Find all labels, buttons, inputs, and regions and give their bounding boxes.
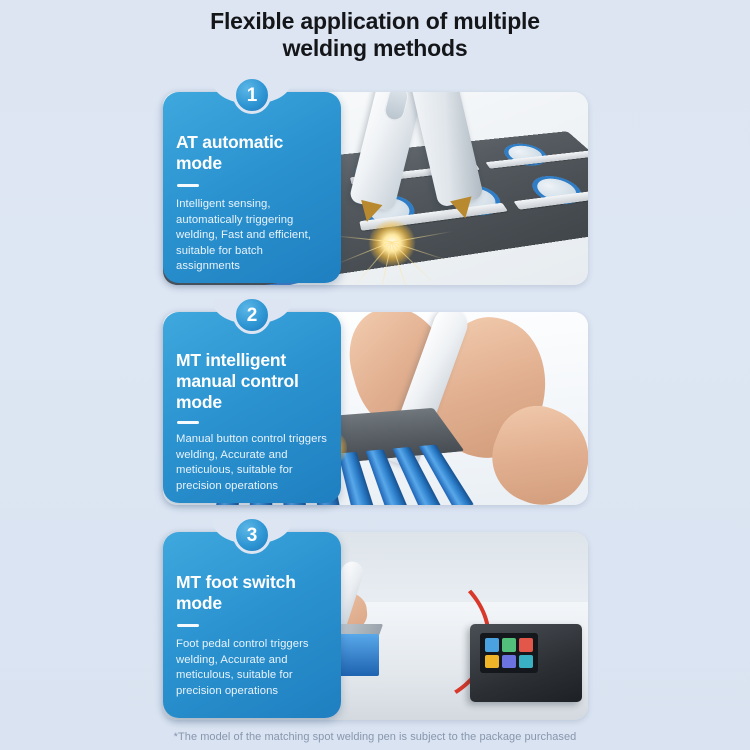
card-1-info-panel: AT automatic mode Intelligent sensing, a… — [163, 92, 341, 283]
divider — [177, 421, 199, 424]
card-2-info-panel: MT intelligent manual control mode Manua… — [163, 312, 341, 503]
page-background: Flexible application of multiple welding… — [0, 0, 750, 750]
divider — [177, 624, 199, 627]
card-3-number-badge: 3 — [233, 516, 271, 554]
screen-key — [502, 655, 516, 669]
page-title-line-1: Flexible application of multiple — [0, 8, 750, 35]
machine-screen — [480, 633, 538, 673]
card-1-description: Intelligent sensing, automatically trigg… — [176, 197, 327, 275]
spot-welder-machine — [470, 624, 582, 702]
page-title-line-2: welding methods — [0, 35, 750, 62]
screen-key — [485, 638, 499, 652]
screen-key — [519, 638, 533, 652]
screen-key — [519, 655, 533, 669]
pen-button — [383, 92, 411, 122]
page-title: Flexible application of multiple welding… — [0, 8, 750, 62]
card-3-heading: MT foot switch mode — [176, 572, 327, 614]
footnote-disclaimer: *The model of the matching spot welding … — [0, 731, 750, 743]
card-2-heading: MT intelligent manual control mode — [176, 350, 327, 413]
mode-card-3: MT foot switch mode Foot pedal control t… — [163, 520, 588, 720]
card-2-description: Manual button control triggers welding, … — [176, 432, 327, 494]
card-3-description: Foot pedal control triggers welding, Acc… — [176, 637, 327, 699]
card-3-info-panel: MT foot switch mode Foot pedal control t… — [163, 532, 341, 718]
screen-key — [502, 638, 516, 652]
card-2-number-badge: 2 — [233, 296, 271, 334]
screen-key — [485, 655, 499, 669]
mode-card-1: AT automatic mode Intelligent sensing, a… — [163, 80, 588, 285]
mode-card-2: MT intelligent manual control mode Manua… — [163, 300, 588, 505]
card-1-number-badge: 1 — [233, 76, 271, 114]
card-1-heading: AT automatic mode — [176, 132, 327, 174]
divider — [177, 184, 199, 187]
